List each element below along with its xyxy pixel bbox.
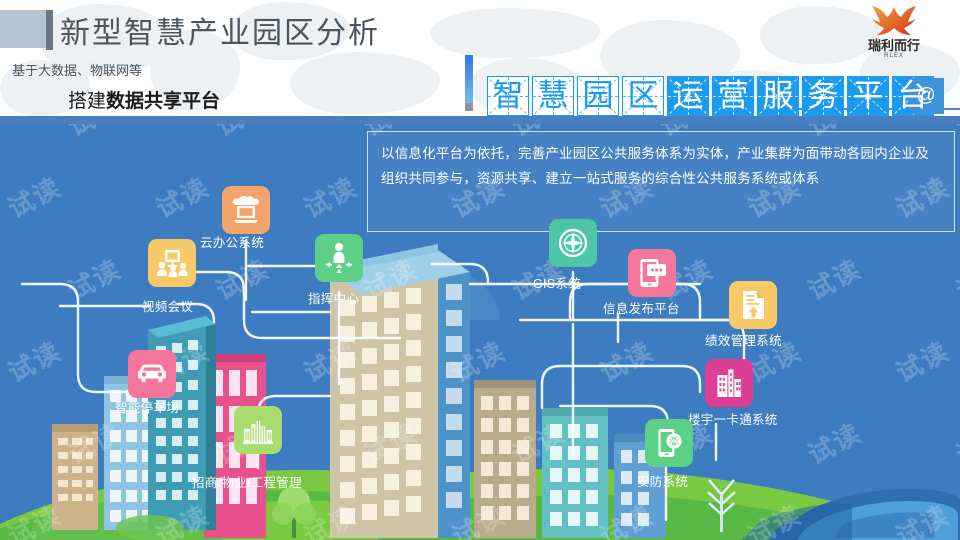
video-conference-icon (156, 248, 189, 278)
title-glyph-cell-8: 务 (802, 76, 844, 116)
system-label-security-sys: 安防系统 (637, 471, 688, 490)
title-accent-foot (465, 103, 473, 111)
header-subtitle-2-bold: 数据共享平台 (106, 91, 220, 112)
title-accent-bar (465, 55, 473, 103)
title-glyph: 服 (763, 81, 794, 112)
slide-canvas: 试读试读试读试读试读试读试读试读试读试读试读试读试读试读试读试读试读试读试读试读… (0, 0, 960, 540)
system-label-info-publish: 信息发布平台 (603, 298, 680, 317)
title-glyph-cell-4: 区 (622, 76, 664, 116)
system-label-gis-system: GIS系统 (533, 273, 581, 292)
system-label-smart-parking: 智能停车场 (115, 397, 179, 416)
compass-icon (557, 227, 589, 259)
title-glyph-cell-7: 服 (757, 76, 799, 116)
title-glyph: 运 (673, 81, 704, 112)
system-tile-property-mgmt[interactable] (234, 406, 282, 454)
buildings-bar-icon (241, 415, 275, 445)
cloud-laptop-icon (230, 195, 262, 225)
platform-title-grid: 智慧园区运营服务平台 (487, 76, 934, 116)
system-label-cloud-office: 云办公系统 (200, 232, 264, 251)
car-icon (135, 362, 169, 386)
title-glyph-cell-5: 运 (667, 76, 709, 116)
header-title-bar (46, 10, 53, 50)
title-glyph: 台 (898, 81, 929, 112)
title-glyph-cell-6: 营 (712, 76, 754, 116)
system-label-perf-mgmt: 绩效管理系统 (705, 330, 782, 349)
title-glyph-cell-10: 台 (892, 76, 934, 116)
description-box: 以信息化平台为依托，完善产业园区公共服务体系为实体，产业集群为面带动各园内企业及… (367, 131, 955, 232)
system-tile-gis-system[interactable] (549, 219, 597, 267)
person-arrows-icon (324, 242, 354, 274)
system-tile-perf-mgmt[interactable] (729, 281, 777, 329)
brand-logo-text-en: RLEX (846, 53, 942, 60)
phone-camera-icon (655, 427, 683, 459)
header-subtitle-2: 搭建数据共享平台 (68, 86, 220, 113)
page-title: 新型智慧产业园区分析 (60, 8, 380, 52)
header-subtitle-1: 基于大数据、物联网等 (12, 60, 142, 79)
system-tile-video-meeting[interactable] (148, 239, 196, 287)
system-tile-command-center[interactable] (315, 234, 363, 282)
header-divider (0, 116, 960, 124)
system-tile-building-card[interactable] (705, 359, 753, 407)
title-glyph: 区 (628, 81, 659, 112)
system-tile-cloud-office[interactable] (222, 186, 270, 234)
title-glyph: 营 (718, 81, 749, 112)
brand-logo-text-cn: 瑞利而行 (846, 39, 942, 53)
title-glyph-cell-3: 园 (577, 76, 619, 116)
title-glyph-cell-2: 慧 (532, 76, 574, 116)
system-label-video-meeting: 视频会议 (142, 296, 193, 315)
brand-logo: 瑞利而行 RLEX (846, 4, 942, 66)
system-tile-security-sys[interactable] (645, 419, 693, 467)
system-tile-smart-parking[interactable] (128, 350, 176, 398)
system-tile-info-publish[interactable] (628, 249, 676, 297)
doc-upload-icon (739, 289, 767, 321)
system-label-command-center: 指挥中心 (308, 288, 359, 307)
header-accent-block (0, 10, 48, 48)
title-glyph-cell-9: 平 (847, 76, 889, 116)
title-glyph: 园 (583, 81, 614, 112)
title-glyph-cell-1: 智 (487, 76, 529, 116)
title-glyph: 务 (808, 81, 839, 112)
phoenix-icon (871, 4, 917, 38)
title-glyph: 慧 (538, 81, 569, 112)
title-glyph: 智 (493, 81, 524, 112)
phone-chat-icon (637, 257, 667, 289)
system-label-building-card: 楼宇一卡通系统 (688, 409, 778, 428)
header-subtitle-2-prefix: 搭建 (68, 91, 106, 112)
system-label-property-mgmt: 招商/物业/工程管理 (192, 472, 302, 491)
title-glyph: 平 (853, 81, 884, 112)
tower-buildings-icon (714, 367, 744, 399)
